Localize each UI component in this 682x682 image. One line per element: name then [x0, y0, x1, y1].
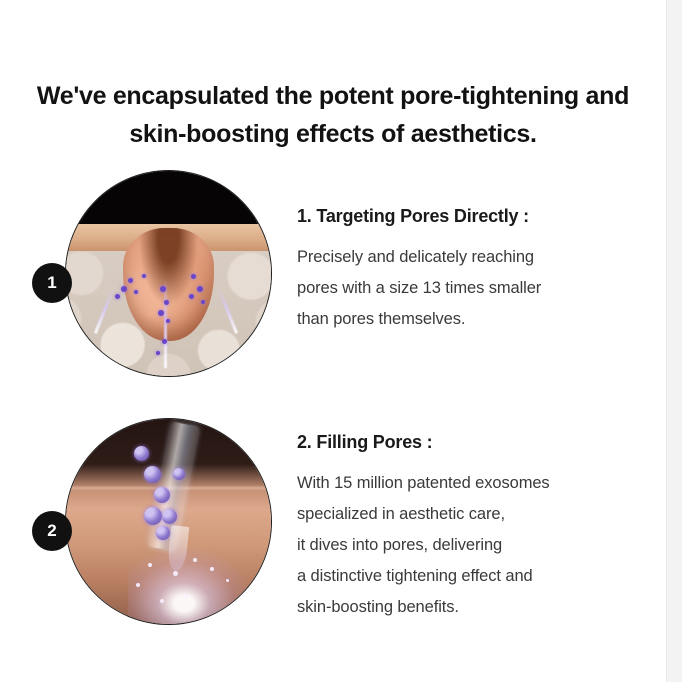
step-1-title: 1. Targeting Pores Directly :	[297, 204, 627, 228]
exosome-bead	[144, 507, 162, 525]
step-1-copy: 1. Targeting Pores Directly : Precisely …	[297, 204, 627, 335]
spray-particle	[226, 579, 229, 582]
exosome-dot	[189, 294, 194, 299]
step-2-body: With 15 million patented exosomes specia…	[297, 468, 627, 623]
body-line: pores with a size 13 times smaller	[297, 273, 627, 304]
body-line: specialized in aesthetic care,	[297, 499, 627, 530]
pore-follicle-closeup-image	[66, 171, 271, 376]
body-line: a distinctive tightening effect and	[297, 561, 627, 592]
body-line: Precisely and delicately reaching	[297, 242, 627, 273]
page-headline: We've encapsulated the potent pore-tight…	[18, 77, 648, 153]
step-1-body: Precisely and delicately reaching pores …	[297, 242, 627, 335]
spray-particle	[173, 571, 178, 576]
body-line: than pores themselves.	[297, 304, 627, 335]
exosome-bead	[156, 526, 170, 540]
body-line: skin-boosting benefits.	[297, 592, 627, 623]
exosome-dot	[197, 286, 203, 292]
exosome-bead	[144, 466, 161, 483]
step-2-title: 2. Filling Pores :	[297, 430, 627, 454]
exosome-dot	[191, 274, 196, 279]
step-2-image	[65, 418, 272, 625]
exosome-dot	[142, 274, 146, 278]
exosome-bead	[154, 487, 170, 503]
spray-particle	[148, 563, 152, 567]
exosome-dot	[128, 278, 133, 283]
exosome-bead	[134, 446, 149, 461]
exosome-spray	[128, 546, 255, 625]
step-1-badge: 1	[32, 263, 72, 303]
spray-particle	[210, 567, 214, 571]
exosome-bead	[173, 468, 185, 480]
step-2-badge: 2	[32, 511, 72, 551]
step-1-image	[65, 170, 272, 377]
exosome-dot	[134, 290, 138, 294]
scrollbar-track[interactable]	[667, 0, 682, 682]
body-line: With 15 million patented exosomes	[297, 468, 627, 499]
spray-particle	[136, 583, 140, 587]
exosome-applicator-image	[66, 419, 271, 624]
step-2-copy: 2. Filling Pores : With 15 million paten…	[297, 430, 627, 623]
body-line: it dives into pores, delivering	[297, 530, 627, 561]
page-content: We've encapsulated the potent pore-tight…	[0, 0, 666, 682]
